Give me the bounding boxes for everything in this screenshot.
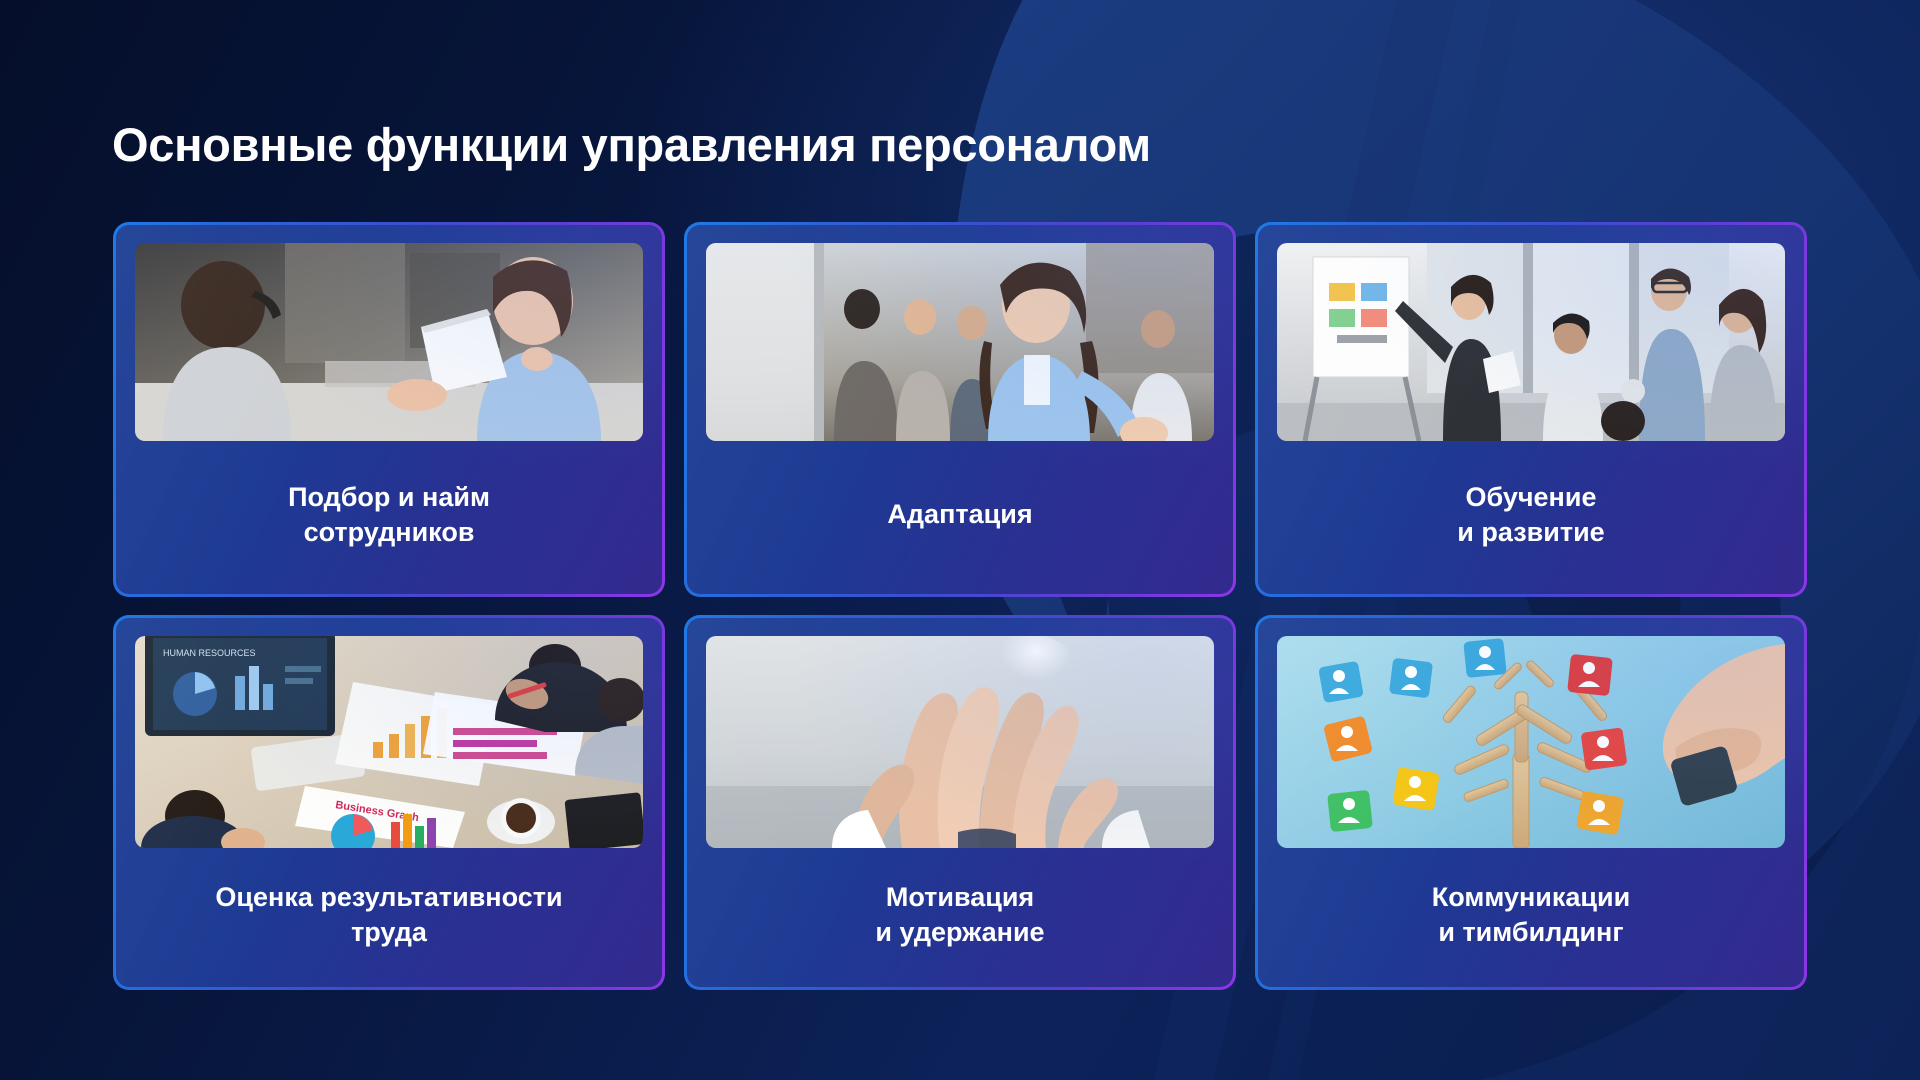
card-caption: Мотивация и удержание (857, 848, 1062, 987)
photo-team-hands (706, 636, 1214, 848)
card-communications[interactable]: Коммуникации и тимбилдинг (1255, 615, 1807, 990)
card-caption: Оценка результативности труда (197, 848, 580, 987)
svg-text:HUMAN RESOURCES: HUMAN RESOURCES (163, 648, 256, 658)
slide-root: Основные функции управления персоналом (0, 0, 1920, 1080)
card-caption: Обучение и развитие (1439, 441, 1622, 594)
functions-card-grid: Подбор и найм сотрудников (113, 222, 1807, 990)
page-title: Основные функции управления персоналом (112, 119, 1612, 172)
card-performance[interactable]: HUMAN RESOURCES (113, 615, 665, 990)
card-caption: Адаптация (869, 441, 1050, 594)
photo-onboarding-handshake (706, 243, 1214, 441)
card-adaptation[interactable]: Адаптация (684, 222, 1236, 597)
card-caption: Подбор и найм сотрудников (270, 441, 508, 594)
card-recruitment[interactable]: Подбор и найм сотрудников (113, 222, 665, 597)
photo-teambuilding-tree (1277, 636, 1785, 848)
card-caption: Коммуникации и тимбилдинг (1414, 848, 1648, 987)
photo-job-interview (135, 243, 643, 441)
photo-training-flipchart (1277, 243, 1785, 441)
photo-performance-review: HUMAN RESOURCES (135, 636, 643, 848)
card-training[interactable]: Обучение и развитие (1255, 222, 1807, 597)
card-motivation[interactable]: Мотивация и удержание (684, 615, 1236, 990)
